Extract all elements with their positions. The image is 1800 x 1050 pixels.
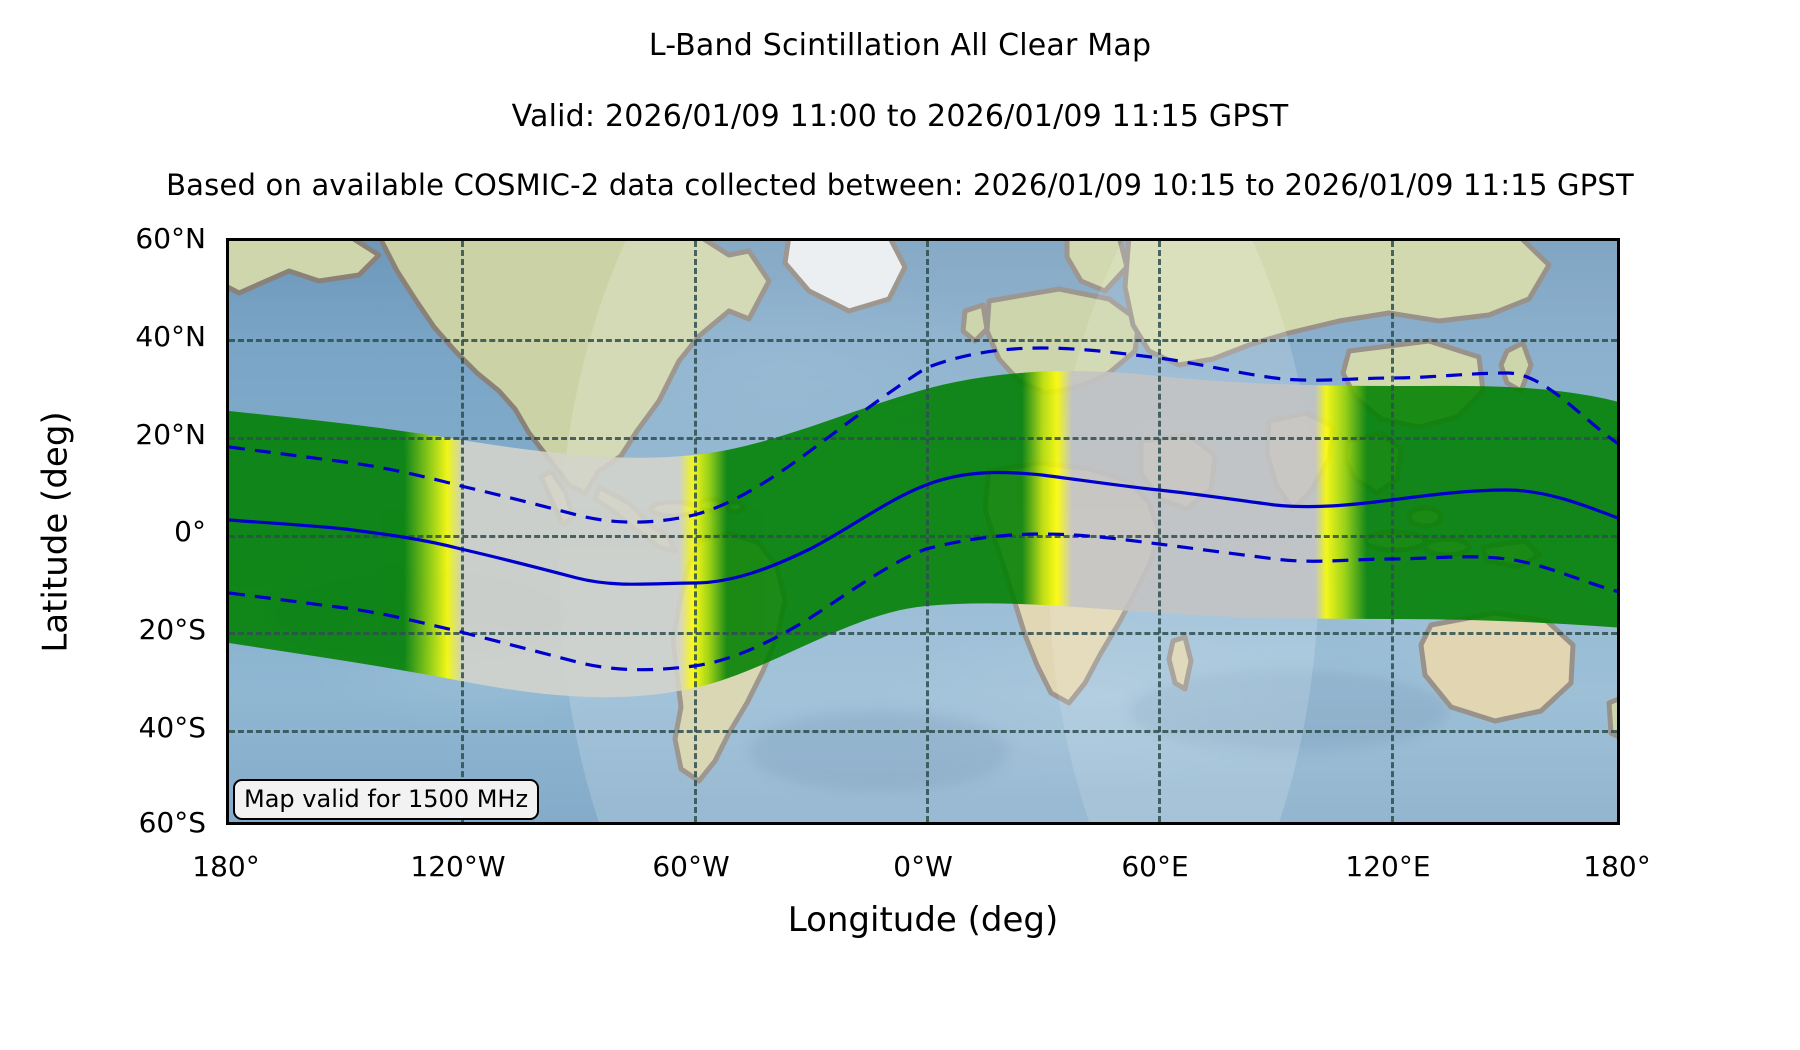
ytick-label-40N: 40°N — [20, 320, 206, 353]
xtick-label-120W: 120°W — [358, 850, 558, 883]
title-block: L-Band Scintillation All Clear Map Valid… — [0, 0, 1800, 202]
map-plot-area: Probably Clear > 95% Probability Clear P… — [226, 238, 1620, 825]
xtick-label-0: 0°W — [823, 850, 1023, 883]
subtitle-source: Based on available COSMIC-2 data collect… — [0, 168, 1800, 202]
xtick-mark-120E — [1391, 822, 1394, 825]
xtick-label-60E: 60°E — [1055, 850, 1255, 883]
xtick-mark-180W — [229, 822, 232, 825]
magnetic-equator-lower-bound — [229, 534, 1617, 670]
ytick-label-20S: 20°S — [20, 613, 206, 646]
xtick-mark-60E — [1158, 822, 1161, 825]
xtick-label-120E: 120°E — [1288, 850, 1488, 883]
ytick-label-40S: 40°S — [20, 711, 206, 744]
magnetic-equator-layer — [229, 241, 1617, 822]
magnetic-equator-upper-bound — [229, 348, 1617, 522]
ytick-mark-60N — [226, 241, 229, 244]
xtick-mark-0 — [926, 822, 929, 825]
ytick-label-0: 0° — [20, 515, 206, 548]
magnetic-equator-line — [229, 472, 1617, 584]
map-canvas: Probably Clear > 95% Probability Clear P… — [229, 241, 1617, 822]
frequency-annotation: Map valid for 1500 MHz — [233, 779, 539, 820]
xtick-mark-60W — [694, 822, 697, 825]
xtick-label-180E: 180° — [1517, 850, 1717, 883]
ytick-label-60N: 60°N — [20, 222, 206, 255]
ytick-mark-0 — [226, 535, 229, 538]
xtick-mark-120W — [461, 822, 464, 825]
ytick-mark-40N — [226, 339, 229, 342]
ytick-mark-20S — [226, 632, 229, 635]
ytick-label-60S: 60°S — [20, 806, 206, 839]
ytick-mark-40S — [226, 730, 229, 733]
figure-canvas: L-Band Scintillation All Clear Map Valid… — [0, 0, 1800, 1050]
ytick-label-20N: 20°N — [20, 418, 206, 451]
page-title: L-Band Scintillation All Clear Map — [0, 28, 1800, 63]
xtick-label-60W: 60°W — [591, 850, 791, 883]
xtick-label-180W: 180° — [126, 850, 326, 883]
ytick-mark-20N — [226, 437, 229, 440]
subtitle-valid: Valid: 2026/01/09 11:00 to 2026/01/09 11… — [0, 99, 1800, 134]
x-axis-title: Longitude (deg) — [226, 900, 1620, 940]
